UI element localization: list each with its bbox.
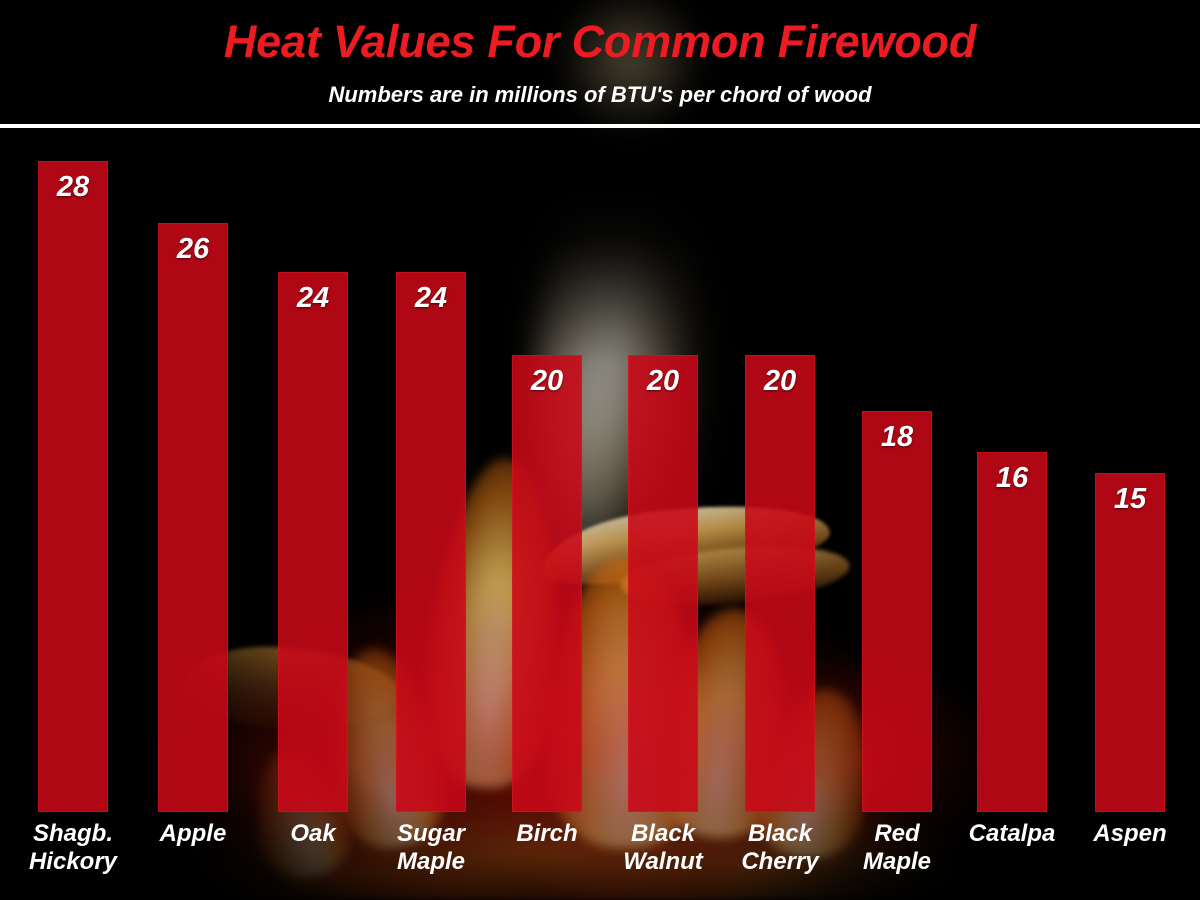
bar-value-label: 18 <box>862 421 932 454</box>
bar-value-label: 20 <box>745 365 815 398</box>
bar-sugar-maple: 24 <box>396 272 466 812</box>
bar-catalpa: 16 <box>977 452 1047 812</box>
bar-black-walnut: 20 <box>628 355 698 812</box>
chart-header: Heat Values For Common Firewood Numbers … <box>0 0 1200 126</box>
bar-value-label: 20 <box>628 365 698 398</box>
category-label-aspen: Aspen <box>1050 820 1200 848</box>
bar-apple: 26 <box>158 223 228 812</box>
bar-red-maple: 18 <box>862 411 932 812</box>
bar-value-label: 26 <box>158 233 228 266</box>
page-title: Heat Values For Common Firewood <box>0 16 1200 68</box>
bar-value-label: 20 <box>512 365 582 398</box>
bar-value-label: 15 <box>1095 483 1165 516</box>
bar-aspen: 15 <box>1095 473 1165 812</box>
chart-subtitle: Numbers are in millions of BTU's per cho… <box>0 82 1200 108</box>
header-divider <box>0 124 1200 128</box>
plot-area: 28Shagb. Hickory26Apple24Oak24Sugar Mapl… <box>0 128 1200 900</box>
bar-value-label: 16 <box>977 462 1047 495</box>
bar-black-cherry: 20 <box>745 355 815 812</box>
bar-shagb-hickory: 28 <box>38 161 108 812</box>
firewood-heat-value-chart: Heat Values For Common Firewood Numbers … <box>0 0 1200 900</box>
bar-value-label: 24 <box>396 282 466 315</box>
bar-value-label: 24 <box>278 282 348 315</box>
bar-oak: 24 <box>278 272 348 812</box>
bar-value-label: 28 <box>38 171 108 204</box>
bar-birch: 20 <box>512 355 582 812</box>
